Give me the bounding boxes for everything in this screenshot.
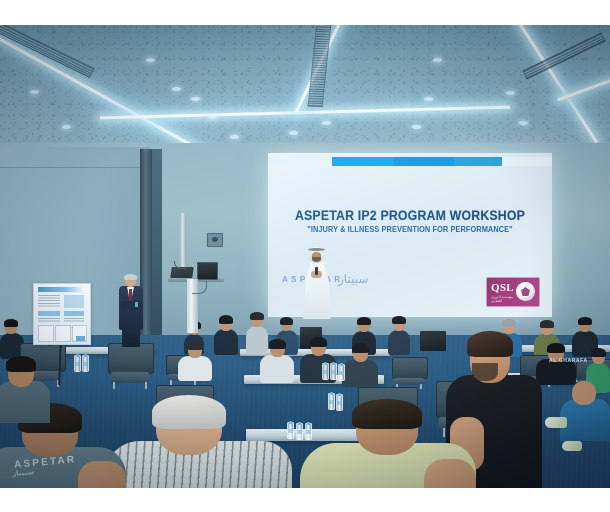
qsl-logo: QSL مؤسسة الدوري القطري: [486, 277, 540, 307]
sneaker-icon: [545, 417, 567, 428]
chair-left-row-1: [108, 343, 152, 389]
hair: [187, 341, 203, 350]
hair: [152, 395, 226, 429]
attendee-back-6: [388, 317, 410, 355]
chair-back-2: [392, 357, 426, 389]
hair: [280, 317, 293, 325]
photo-frame: ASPETAR IP2 PROGRAM WORKSHOP "INJURY & I…: [0, 25, 610, 488]
downlight-13: [506, 91, 515, 95]
hair: [578, 317, 592, 325]
torso: [388, 330, 410, 355]
ceiling: [0, 25, 610, 147]
poster-text-block-3: [64, 318, 84, 322]
poster-chart-bar-2: [64, 311, 84, 316]
attendee-striped-shirt: [104, 397, 292, 488]
attendee-olive-polo: [300, 403, 476, 488]
poster-figure-1: [64, 295, 84, 308]
beard: [472, 363, 498, 381]
laptop-right: [197, 262, 218, 280]
suit-man-hair: [124, 274, 137, 280]
chair-leg-left: [113, 382, 115, 389]
downlight-3: [191, 97, 200, 101]
slide-title: ASPETAR IP2 PROGRAM WORKSHOP: [279, 208, 540, 223]
slide-subtitle: "INJURY & ILLNESS PREVENTION FOR PERFORM…: [282, 225, 538, 234]
hair: [467, 331, 513, 357]
microphone-icon: [315, 267, 318, 275]
chair-seat: [111, 372, 150, 382]
slide-band-segment-1: [268, 157, 332, 166]
hair: [547, 343, 565, 353]
water-bottle-2: [330, 363, 337, 380]
water-bottle-9: [74, 355, 81, 372]
photograph-canvas: ASPETAR IP2 PROGRAM WORKSHOP "INJURY & I…: [0, 0, 610, 512]
lectern: [168, 259, 224, 333]
torso: [178, 356, 212, 381]
bottle-label: [75, 362, 80, 366]
hair: [4, 319, 18, 327]
letterbox-top: [0, 0, 610, 25]
al-gharafa-shirt-text: AL GHARAFA: [549, 358, 588, 364]
arm: [424, 459, 476, 488]
hair: [392, 316, 406, 324]
downlight-6: [62, 125, 71, 129]
hair: [269, 339, 286, 349]
arm: [78, 461, 126, 488]
chair-back-rest: [108, 343, 154, 374]
qsl-initials: QSL: [491, 282, 514, 294]
torso: [560, 399, 610, 441]
downlight-5: [30, 90, 39, 94]
name-badge: [135, 302, 138, 307]
poster-chart-bar-1: [38, 311, 60, 316]
poster-header-band: [38, 287, 84, 292]
torso: [0, 381, 50, 423]
door-glass: [152, 149, 162, 345]
downlight-14: [519, 121, 528, 125]
slide-band-segment-4: [454, 157, 502, 166]
soccer-ball-icon: [516, 282, 535, 301]
water-bottle-1: [322, 363, 329, 380]
bottle-label: [339, 371, 344, 375]
hair: [352, 399, 422, 429]
downlight-7: [230, 135, 239, 139]
poster-text-block-2: [38, 318, 60, 322]
poster-panel-1: [38, 325, 54, 342]
hair: [502, 319, 516, 327]
downlight-2: [172, 87, 181, 91]
hair: [310, 337, 327, 347]
attendee-mid-4: [342, 343, 378, 387]
downlight-12: [412, 125, 421, 129]
slide-band-segment-2: [332, 157, 394, 166]
bottle-label: [331, 370, 336, 374]
standing-man-in-suit: [118, 275, 144, 347]
torso: [260, 355, 294, 383]
aspetar-arabic-wordmark: سبيتار: [338, 272, 368, 286]
slide-top-band: [268, 157, 552, 166]
poster-text-block-1: [38, 295, 60, 307]
speaker-in-thobe: [300, 247, 334, 319]
bottle-label: [323, 370, 328, 374]
hair: [591, 348, 606, 357]
monitor-back-right: [420, 331, 446, 351]
water-bottle-3: [338, 364, 345, 381]
slide-band-segment-3: [394, 157, 454, 166]
chair-leg-right: [420, 384, 422, 389]
downlight-4: [208, 115, 217, 119]
bottle-label: [83, 362, 88, 366]
attendee-mid-1: [178, 341, 212, 381]
slide-band-segment-5: [502, 157, 552, 166]
sneaker-icon-2: [562, 441, 582, 451]
downlight-10: [433, 58, 442, 62]
downlight-9: [322, 121, 331, 125]
attendee-right-edge: [560, 381, 610, 441]
agal-cord-icon: [308, 248, 325, 251]
hair: [540, 320, 554, 328]
hair: [352, 343, 369, 353]
letterbox-bottom: [0, 488, 610, 512]
downlight-1: [146, 58, 155, 62]
attendee-al-gharafa: [536, 343, 576, 385]
hair: [6, 356, 36, 372]
qsl-arabic-subtitle: مؤسسة الدوري القطري: [491, 295, 519, 304]
wall-control-panel-icon[interactable]: [207, 233, 223, 247]
research-poster: [33, 283, 91, 345]
torso: [342, 360, 378, 387]
suit-trousers: [122, 329, 140, 347]
poster-panel-2: [55, 325, 71, 342]
head: [572, 381, 596, 405]
slide-aspetar-logo: ASPETAR سبيتار: [282, 261, 390, 295]
attendee-left-edge: [0, 359, 50, 423]
water-bottle-10: [82, 355, 89, 372]
hair: [357, 317, 371, 325]
downlight-8: [289, 131, 298, 135]
poster-footer-logo: [76, 336, 85, 341]
lectern-cable: [192, 281, 207, 294]
attendee-mid-2: [260, 339, 294, 383]
speaker-beard: [312, 257, 321, 262]
chair-back-rest: [392, 357, 428, 379]
chair-leg-right: [145, 382, 147, 389]
hair: [250, 312, 264, 320]
crossed-arms: [120, 301, 142, 310]
wall-seam-top: [0, 167, 150, 168]
downlight-11: [424, 97, 433, 101]
